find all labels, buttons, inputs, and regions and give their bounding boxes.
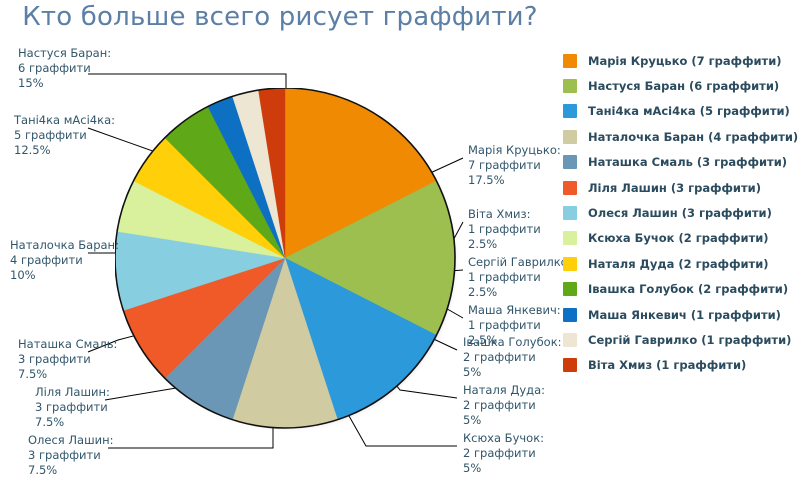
legend-color-swatch xyxy=(563,308,577,322)
callout-name: Тані4ка мАсі4ка: xyxy=(14,113,115,128)
legend-item-label: Ксюха Бучок (2 граффити) xyxy=(588,231,769,245)
callout-value: 3 граффити xyxy=(35,400,110,415)
legend-color-swatch xyxy=(563,333,577,347)
legend-item[interactable]: Марія Круцько (7 граффити) xyxy=(563,48,798,73)
legend-item-label: Тані4ка мАсі4ка (5 граффити) xyxy=(588,104,790,118)
legend-item-label: Івашка Голубок (2 граффити) xyxy=(588,282,788,296)
callout-value: 3 граффити xyxy=(28,448,113,463)
legend-item-label: Марія Круцько (7 граффити) xyxy=(588,54,782,68)
callout-ksyuha: Ксюха Бучок: 2 граффити 5% xyxy=(463,431,544,476)
callout-name: Наташка Смаль: xyxy=(18,337,117,352)
callout-natashka: Наташка Смаль: 3 граффити 7.5% xyxy=(18,337,117,382)
callout-percent: 17.5% xyxy=(468,173,561,188)
callout-name: Наталочка Баран: xyxy=(10,238,119,253)
legend-item[interactable]: Настуся Баран (6 граффити) xyxy=(563,73,798,98)
callout-percent: 15% xyxy=(18,76,111,91)
callout-percent: 12.5% xyxy=(14,143,115,158)
legend-color-swatch xyxy=(563,231,577,245)
callout-value: 1 граффити xyxy=(468,270,572,285)
callout-name: Наталя Дуда: xyxy=(463,383,545,398)
callout-name: Ліля Лашин: xyxy=(35,385,110,400)
callout-natalya: Наталя Дуда: 2 граффити 5% xyxy=(463,383,545,428)
pie-graphic xyxy=(115,88,460,433)
legend-color-swatch xyxy=(563,104,577,118)
callout-value: 6 граффити xyxy=(18,61,111,76)
callout-ivashka: Івашка Голубок: 2 граффити 5% xyxy=(463,335,562,380)
callout-name: Олеся Лашин: xyxy=(28,433,113,448)
pie-chart-figure: Кто больше всего рисует граффити? xyxy=(0,0,800,500)
legend-item-label: Ліля Лашин (3 граффити) xyxy=(588,181,761,195)
callout-percent: 2.5% xyxy=(468,237,541,252)
page-title: Кто больше всего рисует граффити? xyxy=(0,2,560,32)
callout-percent: 10% xyxy=(10,268,119,283)
callout-value: 1 граффити xyxy=(468,318,561,333)
legend-item-label: Настуся Баран (6 граффити) xyxy=(588,79,779,93)
callout-percent: 5% xyxy=(463,413,545,428)
callout-name: Віта Хмиз: xyxy=(468,207,541,222)
callout-percent: 7.5% xyxy=(35,415,110,430)
legend-item[interactable]: Наталя Дуда (2 граффити) xyxy=(563,251,798,276)
callout-percent: 5% xyxy=(463,461,544,476)
chart-legend: Марія Круцько (7 граффити)Настуся Баран … xyxy=(563,48,798,378)
callout-value: 1 граффити xyxy=(468,222,541,237)
legend-color-swatch xyxy=(563,206,577,220)
legend-item-label: Наталочка Баран (4 граффити) xyxy=(588,130,798,144)
legend-item[interactable]: Ліля Лашин (3 граффити) xyxy=(563,175,798,200)
legend-color-swatch xyxy=(563,130,577,144)
legend-color-swatch xyxy=(563,257,577,271)
legend-color-swatch xyxy=(563,79,577,93)
pie-slices xyxy=(115,88,460,433)
callout-lilya: Ліля Лашин: 3 граффити 7.5% xyxy=(35,385,110,430)
legend-item-label: Наталя Дуда (2 граффити) xyxy=(588,257,769,271)
legend-color-swatch xyxy=(563,181,577,195)
callout-mariya: Марія Круцько: 7 граффити 17.5% xyxy=(468,143,561,188)
callout-value: 7 граффити xyxy=(468,158,561,173)
legend-item-label: Маша Янкевич (1 граффити) xyxy=(588,308,781,322)
legend-item-label: Віта Хмиз (1 граффити) xyxy=(588,358,746,372)
callout-name: Марія Круцько: xyxy=(468,143,561,158)
legend-item[interactable]: Олеся Лашин (3 граффити) xyxy=(563,200,798,225)
callout-value: 2 граффити xyxy=(463,446,544,461)
legend-item[interactable]: Сергій Гаврилко (1 граффити) xyxy=(563,327,798,352)
legend-color-swatch xyxy=(563,54,577,68)
legend-item[interactable]: Маша Янкевич (1 граффити) xyxy=(563,302,798,327)
legend-color-swatch xyxy=(563,358,577,372)
callout-percent: 5% xyxy=(463,365,562,380)
legend-item-label: Наташка Смаль (3 граффити) xyxy=(588,155,787,169)
callout-percent: 7.5% xyxy=(28,463,113,478)
callout-olesya: Олеся Лашин: 3 граффити 7.5% xyxy=(28,433,113,478)
legend-item-label: Олеся Лашин (3 граффити) xyxy=(588,206,772,220)
legend-item[interactable]: Наталочка Баран (4 граффити) xyxy=(563,124,798,149)
callout-value: 2 граффити xyxy=(463,398,545,413)
callout-percent: 2.5% xyxy=(468,285,572,300)
callout-value: 2 граффити xyxy=(463,350,562,365)
callout-name: Ксюха Бучок: xyxy=(463,431,544,446)
legend-item[interactable]: Ксюха Бучок (2 граффити) xyxy=(563,226,798,251)
legend-color-swatch xyxy=(563,282,577,296)
legend-item[interactable]: Тані4ка мАсі4ка (5 граффити) xyxy=(563,99,798,124)
callout-name: Настуся Баран: xyxy=(18,46,111,61)
callout-vita: Віта Хмиз: 1 граффити 2.5% xyxy=(468,207,541,252)
callout-value: 5 граффити xyxy=(14,128,115,143)
callout-value: 3 граффити xyxy=(18,352,117,367)
callout-name: Маша Янкевич: xyxy=(468,303,561,318)
legend-color-swatch xyxy=(563,155,577,169)
legend-item[interactable]: Віта Хмиз (1 граффити) xyxy=(563,353,798,378)
callout-percent: 7.5% xyxy=(18,367,117,382)
callout-tanichka: Тані4ка мАсі4ка: 5 граффити 12.5% xyxy=(14,113,115,158)
legend-item-label: Сергій Гаврилко (1 граффити) xyxy=(588,333,791,347)
callout-sergiy: Сергій Гаврилко: 1 граффити 2.5% xyxy=(468,255,572,300)
callout-value: 4 граффити xyxy=(10,253,119,268)
callout-nastusya: Настуся Баран: 6 граффити 15% xyxy=(18,46,111,91)
legend-item[interactable]: Івашка Голубок (2 граффити) xyxy=(563,277,798,302)
callout-name: Івашка Голубок: xyxy=(463,335,562,350)
callout-natalochka: Наталочка Баран: 4 граффити 10% xyxy=(10,238,119,283)
legend-item[interactable]: Наташка Смаль (3 граффити) xyxy=(563,150,798,175)
callout-name: Сергій Гаврилко: xyxy=(468,255,572,270)
